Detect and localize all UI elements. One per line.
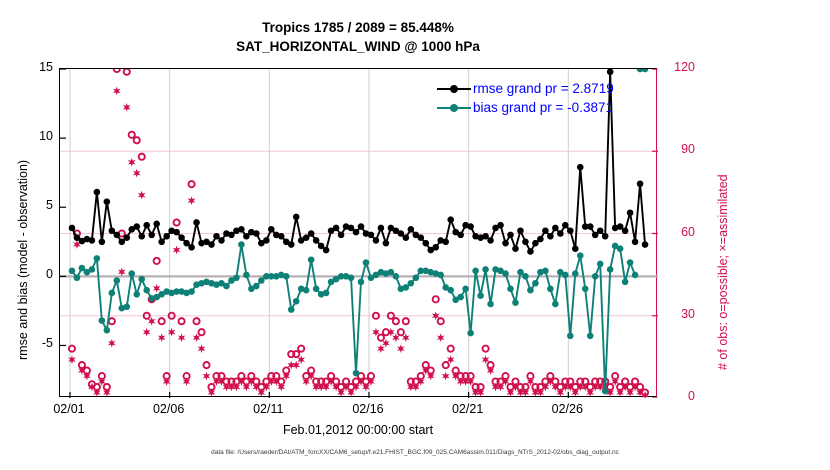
x-axis: 02/0102/0602/1102/1602/2102/26 (0, 402, 830, 422)
x-axis-label: Feb.01,2012 00:00:00 start (59, 423, 657, 437)
chart-title-block: Tropics 1785 / 2089 = 85.448% SAT_HORIZO… (59, 18, 657, 56)
x-axis-tick: 02/01 (39, 402, 99, 416)
x-axis-tick: 02/11 (238, 402, 298, 416)
left-axis-tick: 10 (7, 130, 53, 142)
chart-title-line-1: Tropics 1785 / 2089 = 85.448% (59, 18, 657, 37)
legend-marker-rmse (437, 82, 471, 96)
left-axis-tick: -5 (7, 337, 53, 349)
legend[interactable]: rmse grand pr = 2.8719 bias grand pr = -… (434, 77, 617, 119)
x-axis-tick: 02/26 (537, 402, 597, 416)
x-axis-tick: 02/16 (338, 402, 398, 416)
legend-label-bias: bias grand pr = -0.3871 (473, 100, 613, 115)
left-axis-tick: 15 (7, 61, 53, 73)
right-axis-tick: 0 (661, 390, 695, 402)
right-axis: 0306090120 (661, 0, 721, 470)
right-axis-tick: 90 (661, 143, 695, 155)
series-star (68, 87, 649, 398)
right-axis-label: # of obs: o=possible; ×=assimilated (716, 174, 730, 370)
data-file-footer: data file: /Users/raeder/DAI/ATM_forcXX/… (0, 449, 830, 456)
left-axis-tick: 0 (7, 268, 53, 280)
x-axis-tick: 02/06 (139, 402, 199, 416)
legend-marker-bias (437, 101, 471, 115)
legend-entry-rmse[interactable]: rmse grand pr = 2.8719 (437, 79, 614, 98)
left-axis-tick: 5 (7, 199, 53, 211)
legend-entry-bias[interactable]: bias grand pr = -0.3871 (437, 98, 614, 117)
legend-label-rmse: rmse grand pr = 2.8719 (473, 81, 614, 96)
x-axis-tick: 02/21 (438, 402, 498, 416)
right-axis-tick: 60 (661, 226, 695, 238)
left-axis-label: rmse and bias (model - observation) (16, 160, 30, 360)
chart-title-line-2: SAT_HORIZONTAL_WIND @ 1000 hPa (59, 37, 657, 56)
figure-window: Tropics 1785 / 2089 = 85.448% SAT_HORIZO… (0, 0, 830, 470)
right-axis-tick: 30 (661, 308, 695, 320)
right-axis-tick: 120 (661, 61, 695, 73)
